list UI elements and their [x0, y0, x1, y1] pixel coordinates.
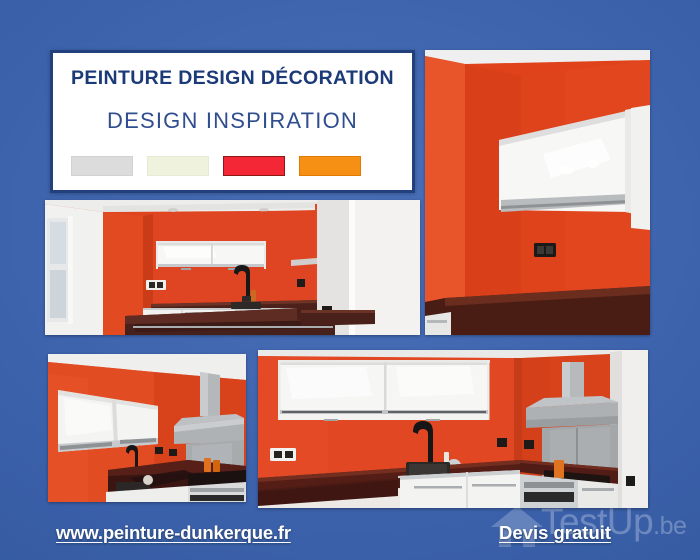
swatch-bright-red — [223, 156, 285, 176]
page-title: PEINTURE DESIGN DÉCORATION — [53, 67, 412, 90]
photo-mid-left — [45, 200, 420, 335]
poster-canvas: TestUp.be PEINTURE DESIGN DÉCORATION DES… — [0, 0, 700, 560]
kitchen-corner-image — [425, 50, 650, 335]
swatch-orange — [299, 156, 361, 176]
free-quote-link[interactable]: Devis gratuit — [499, 522, 611, 544]
swatch-light-grey — [71, 156, 133, 176]
kitchen-wide-image — [45, 200, 420, 335]
watermark-suffix: .be — [653, 512, 686, 540]
color-swatch-row — [71, 156, 361, 176]
page-subtitle: DESIGN INSPIRATION — [53, 108, 412, 134]
header-card: PEINTURE DESIGN DÉCORATION DESIGN INSPIR… — [50, 50, 415, 193]
kitchen-hood-image — [48, 354, 246, 502]
swatch-ivory-cream — [147, 156, 209, 176]
kitchen-corner-wide-image — [258, 350, 648, 508]
photo-top-right — [425, 50, 650, 335]
photo-bottom-left — [48, 354, 246, 502]
website-url-link[interactable]: www.peinture-dunkerque.fr — [56, 522, 291, 544]
photo-bottom-right — [258, 350, 648, 508]
